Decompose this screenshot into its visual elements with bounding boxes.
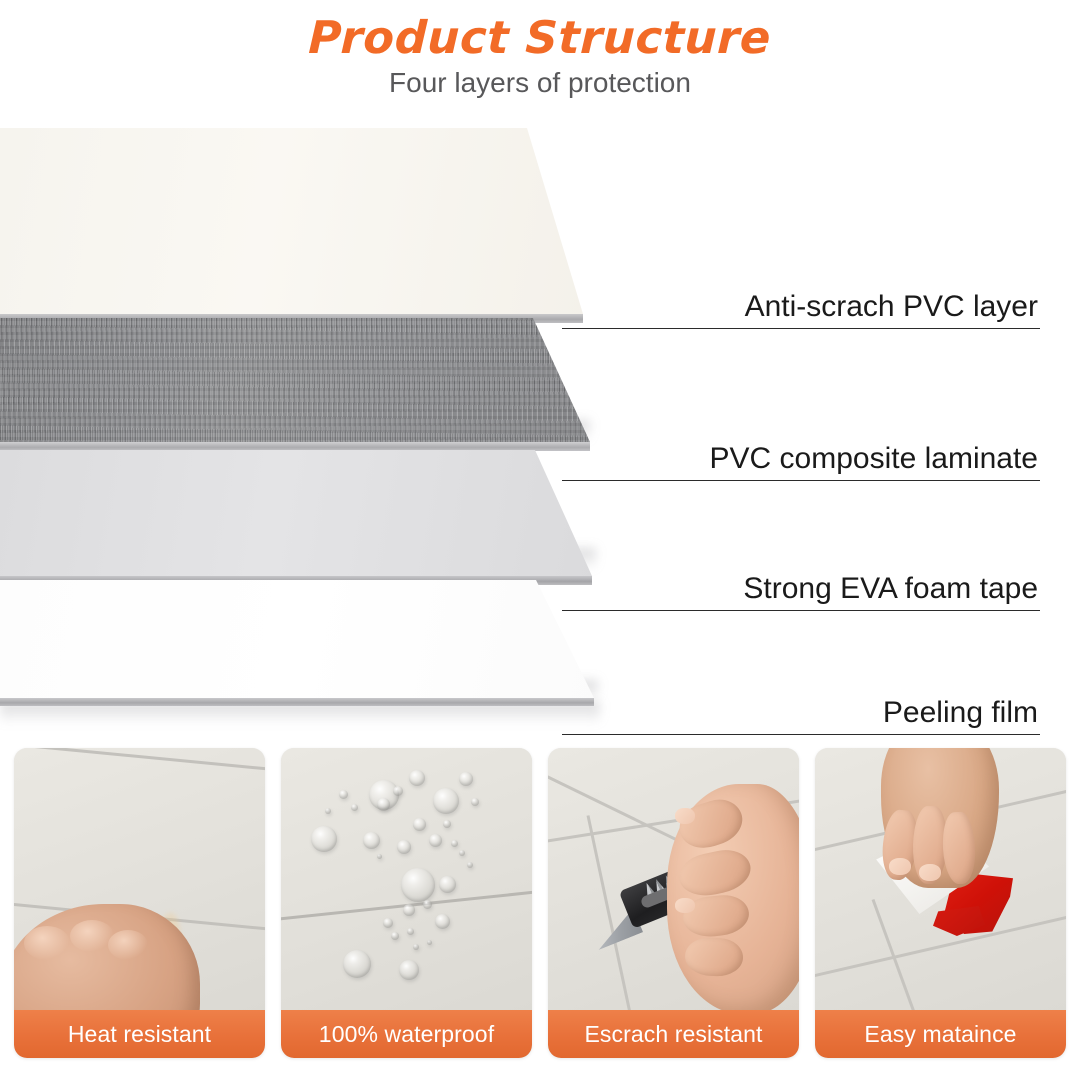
water-droplet	[377, 798, 390, 811]
water-droplet	[393, 786, 403, 796]
water-droplet	[435, 914, 450, 929]
feature-card-scratch-resistant[interactable]: Escrach resistant	[548, 748, 799, 1058]
feature-caption-easy-maintenance: Easy mataince	[815, 1010, 1066, 1058]
callout-rule-2	[562, 480, 1040, 481]
water-droplet	[397, 840, 411, 854]
layer-slab-anti-scratch-pvc	[0, 128, 592, 324]
fingernail	[889, 858, 911, 875]
water-droplet	[407, 928, 414, 935]
layer-face-4	[0, 580, 606, 710]
water-droplet	[325, 808, 331, 814]
callout-anti-scratch-pvc: Anti-scrach PVC layer	[562, 290, 1040, 329]
feature-card-easy-maintenance[interactable]: Easy mataince	[815, 748, 1066, 1058]
water-droplet	[399, 960, 419, 980]
callout-rule-3	[562, 610, 1040, 611]
water-droplet	[413, 944, 419, 950]
page-title: Product Structure	[0, 0, 1080, 61]
finger	[684, 937, 743, 977]
callout-label-1: Anti-scrach PVC layer	[562, 290, 1040, 323]
product-layer-diagram: Anti-scrach PVC layer PVC composite lami…	[0, 120, 1080, 730]
callout-label-3: Strong EVA foam tape	[562, 572, 1040, 605]
callout-label-2: PVC composite laminate	[562, 442, 1040, 475]
layer-face-1	[0, 128, 592, 324]
callout-pvc-composite-laminate: PVC composite laminate	[562, 442, 1040, 481]
feature-caption-waterproof: 100% waterproof	[281, 1010, 532, 1058]
water-droplet	[311, 826, 337, 852]
water-droplet	[459, 850, 465, 856]
layer-slab-pvc-composite-laminate	[0, 318, 600, 454]
water-droplet	[439, 876, 456, 893]
callout-eva-foam-tape: Strong EVA foam tape	[562, 572, 1040, 611]
feature-caption-scratch-resistant: Escrach resistant	[548, 1010, 799, 1058]
feature-card-waterproof[interactable]: 100% waterproof	[281, 748, 532, 1058]
water-droplet	[363, 832, 380, 849]
water-droplet	[427, 940, 432, 945]
layer-face-3	[0, 450, 604, 588]
water-droplet	[403, 904, 415, 916]
fingernail	[675, 808, 695, 824]
water-droplet	[413, 818, 426, 831]
layer-slab-peeling-film	[0, 580, 606, 710]
water-droplet	[409, 770, 425, 786]
water-droplet	[423, 900, 432, 909]
water-droplet	[429, 834, 442, 847]
layer-edge-4	[0, 698, 594, 706]
page-subtitle: Four layers of protection	[0, 61, 1080, 99]
water-droplet	[401, 868, 435, 902]
water-droplet	[343, 950, 371, 978]
water-droplet	[443, 820, 451, 828]
water-droplet	[377, 854, 382, 859]
layer-face-2	[0, 318, 600, 454]
water-droplet	[471, 798, 479, 806]
water-droplet	[467, 862, 473, 868]
water-droplet	[383, 918, 393, 928]
callout-rule-4	[562, 734, 1040, 735]
callout-rule-1	[562, 328, 1040, 329]
callout-peeling-film: Peeling film	[562, 696, 1040, 735]
water-droplet	[451, 840, 458, 847]
infographic-header: Product Structure Four layers of protect…	[0, 0, 1080, 120]
fingernail	[675, 898, 695, 913]
knuckle-highlight	[24, 926, 70, 960]
water-droplet	[459, 772, 473, 786]
water-droplet	[351, 804, 358, 811]
feature-caption-heat-resistant: Heat resistant	[14, 1010, 265, 1058]
layer-slab-eva-foam-tape	[0, 450, 604, 588]
water-droplet	[433, 788, 459, 814]
callout-label-4: Peeling film	[562, 696, 1040, 729]
feature-card-row: Heat resistant 100% waterproof	[14, 748, 1066, 1066]
fingernail	[919, 864, 941, 881]
feature-card-heat-resistant[interactable]: Heat resistant	[14, 748, 265, 1058]
knuckle-highlight	[108, 930, 148, 960]
water-droplet	[339, 790, 348, 799]
water-droplet	[391, 932, 399, 940]
